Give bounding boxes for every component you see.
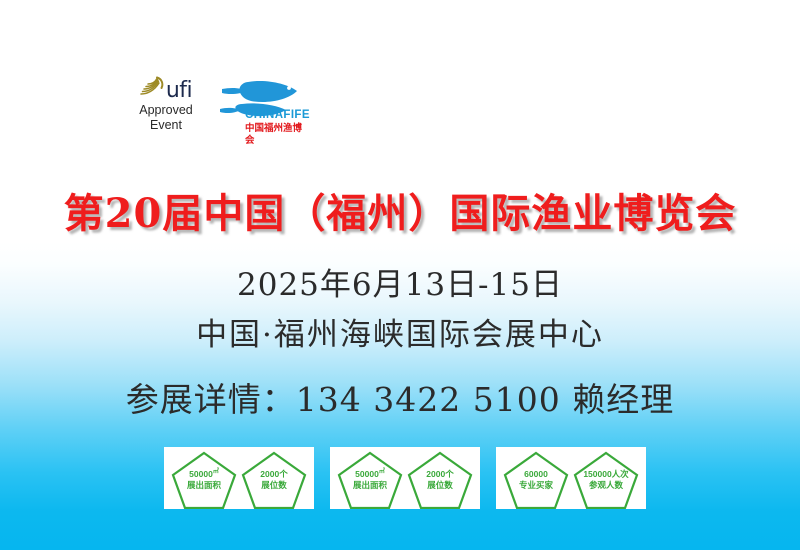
stat-box: 50000㎡ 展出面积 2000个 展位数 <box>164 447 314 509</box>
stat-box: 50000㎡ 展出面积 2000个 展位数 <box>330 447 480 509</box>
pentagon-icon <box>336 449 404 509</box>
event-venue: 中国·福州海峡国际会展中心 <box>0 309 800 354</box>
stat-pentagon: 50000㎡ 展出面积 <box>336 449 404 509</box>
pentagon-icon <box>406 449 474 509</box>
ufi-wordmark: ufi <box>166 80 192 102</box>
ufi-mark: ufi <box>140 78 192 102</box>
exhibition-promo-banner: ufi Approved Event <box>0 0 800 550</box>
stat-pentagon: 60000 专业买家 <box>502 449 570 509</box>
pentagon-icon <box>240 449 308 509</box>
ufi-approved-line1: Approved <box>139 103 193 118</box>
event-title: 第20届中国（福州）国际渔业博览会 <box>0 181 800 239</box>
stat-pentagon: 150000人次 参观人数 <box>572 449 640 509</box>
pentagon-icon <box>170 449 238 509</box>
event-contact: 参展详情：134 3422 5100 赖经理 <box>0 373 800 421</box>
chinafife-logo: CHINAFIFE 中国福州渔博会 <box>218 78 310 138</box>
pentagon-icon <box>572 449 640 509</box>
ufi-swoosh-icon <box>140 75 166 102</box>
chinafife-english: CHINAFIFE <box>245 109 310 122</box>
stat-pentagon: 2000个 展位数 <box>406 449 474 509</box>
logo-row: ufi Approved Event <box>128 78 310 144</box>
ufi-approved-line2: Event <box>139 118 193 133</box>
stat-pentagon: 2000个 展位数 <box>240 449 308 509</box>
stat-box: 60000 专业买家 150000人次 参观人数 <box>496 447 646 509</box>
ufi-approved-event-logo: ufi Approved Event <box>128 78 204 132</box>
stats-row: 50000㎡ 展出面积 2000个 展位数 <box>164 447 646 509</box>
event-date: 2025年6月13日-15日 <box>0 259 800 304</box>
ufi-approved-label: Approved Event <box>139 103 193 132</box>
pentagon-icon <box>502 449 570 509</box>
chinafife-text: CHINAFIFE 中国福州渔博会 <box>245 109 310 147</box>
chinafife-chinese: 中国福州渔博会 <box>245 123 310 147</box>
stat-pentagon: 50000㎡ 展出面积 <box>170 449 238 509</box>
